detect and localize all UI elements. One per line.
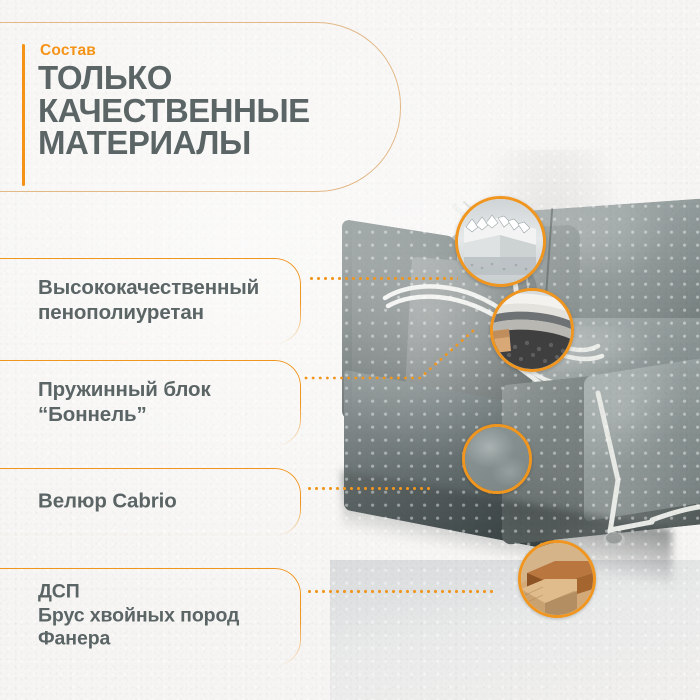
feature-label-foam: Высококачественный пенополиуретан <box>38 275 259 325</box>
feature-row-wood: ДСП Брус хвойных пород Фанера <box>0 568 300 664</box>
callout-wood-timber-closeup[interactable] <box>518 540 596 618</box>
feature-row-spring-block: Пружинный блок “Боннель” <box>0 360 300 444</box>
callout-spring-block-cross-section[interactable] <box>490 288 574 372</box>
feature-row-foam: Высококачественный пенополиуретан <box>0 258 300 342</box>
header-eyebrow: Состав <box>40 42 96 60</box>
feature-label-velour: Велюр Cabrio <box>38 488 177 513</box>
connector-dots-wood <box>306 590 496 593</box>
promo-banner: Состав ТОЛЬКО КАЧЕСТВЕННЫЕ МАТЕРИАЛЫ Выс… <box>0 0 700 700</box>
callout-foam-cross-section[interactable] <box>455 196 546 287</box>
callout-velour-fabric-closeup[interactable] <box>462 424 532 494</box>
page-title: ТОЛЬКО КАЧЕСТВЕННЫЕ МАТЕРИАЛЫ <box>38 62 468 160</box>
connector-dots-velour <box>306 487 432 490</box>
header-accent-bar <box>22 44 25 186</box>
feature-label-wood: ДСП Брус хвойных пород Фанера <box>38 581 239 652</box>
feature-label-spring-block: Пружинный блок “Боннель” <box>38 377 211 427</box>
feature-row-velour: Велюр Cabrio <box>0 468 300 534</box>
connector-dots-foam <box>308 277 458 280</box>
